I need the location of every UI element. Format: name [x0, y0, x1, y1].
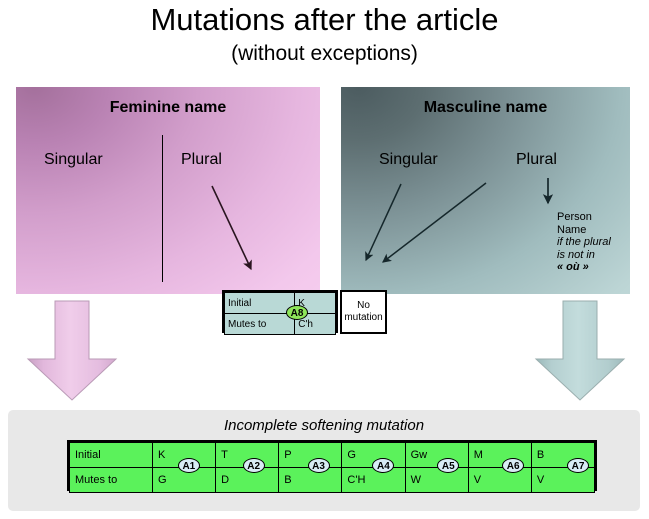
- mutation-initial-a3: P: [279, 443, 342, 468]
- no-mutation-line2: mutation: [344, 312, 382, 323]
- mutation-initial-a5: Gw: [405, 443, 468, 468]
- mutation-table-grid: Initial KTPGGwMB Mutes to GDBC'HWVV: [69, 442, 595, 493]
- masculine-singular-label: Singular: [379, 151, 438, 169]
- feminine-singular-label: Singular: [44, 151, 103, 169]
- masculine-plural-label: Plural: [516, 151, 557, 169]
- feminine-panel-divider: [162, 135, 163, 282]
- mutation-initial-a7: B: [531, 443, 594, 468]
- mutation-mutesto-a2: D: [216, 468, 279, 493]
- masculine-panel-title: Masculine name: [341, 99, 630, 117]
- person-note-line4: is not in: [557, 249, 595, 261]
- down-block-arrow-right: [534, 301, 626, 401]
- mutation-mutesto-label: Mutes to: [70, 468, 153, 493]
- masculine-diagonal-arrow-2: [383, 183, 486, 262]
- table-row: Initial K: [225, 293, 336, 314]
- table-row: Mutes to C'h: [225, 314, 336, 335]
- person-note-line3: if the plural: [557, 236, 611, 248]
- person-note-line2: Name: [557, 224, 586, 236]
- badge-a8: A8: [286, 305, 308, 320]
- bottom-panel-heading: Incomplete softening mutation: [8, 417, 640, 434]
- no-mutation-text: No mutation: [344, 300, 382, 324]
- masculine-diagonal-arrow-1: [366, 184, 401, 260]
- table-row-initial: Initial KTPGGwMB: [70, 443, 595, 468]
- mutation-initial-a6: M: [468, 443, 531, 468]
- mutation-mutesto-a1: G: [153, 468, 216, 493]
- mutation-mutesto-a4: C'H: [342, 468, 405, 493]
- bottom-panel: Incomplete softening mutation Initial KT…: [8, 410, 640, 511]
- title-block: Mutations after the article (without exc…: [0, 2, 649, 67]
- mutation-initial-a2: T: [216, 443, 279, 468]
- a8-initial-label: Initial: [225, 293, 295, 314]
- arrow-shape: [28, 301, 116, 400]
- person-name-note: Person Name if the plural is not in « où…: [557, 211, 637, 274]
- mutation-initial-a4: G: [342, 443, 405, 468]
- person-note-line1: Person: [557, 211, 592, 223]
- a8-mutesto-label: Mutes to: [225, 314, 295, 335]
- down-block-arrow-left: [26, 301, 118, 401]
- person-note-line5: « où »: [557, 261, 589, 273]
- masculine-name-panel: Masculine name Singular Plural Person Na…: [341, 87, 630, 294]
- page-title: Mutations after the article: [0, 2, 649, 38]
- feminine-diagonal-arrow: [212, 186, 251, 269]
- feminine-plural-label: Plural: [181, 151, 222, 169]
- feminine-arrow-svg: [16, 87, 320, 294]
- no-mutation-line1: No: [357, 300, 370, 311]
- table-row-mutesto: Mutes to GDBC'HWVV: [70, 468, 595, 493]
- a8-table-grid: Initial K Mutes to C'h: [224, 292, 336, 335]
- incomplete-softening-mutation-table: Initial KTPGGwMB Mutes to GDBC'HWVV A1A2…: [67, 440, 597, 491]
- page-subtitle: (without exceptions): [0, 41, 649, 67]
- mutation-mutesto-a6: V: [468, 468, 531, 493]
- mutation-mutesto-a7: V: [531, 468, 594, 493]
- feminine-name-panel: Feminine name Singular Plural: [16, 87, 320, 294]
- arrow-shape: [536, 301, 624, 400]
- mutation-initial-label: Initial: [70, 443, 153, 468]
- feminine-panel-title: Feminine name: [16, 99, 320, 117]
- mutation-initial-a1: K: [153, 443, 216, 468]
- mutation-mutesto-a5: W: [405, 468, 468, 493]
- mutation-mutesto-a3: B: [279, 468, 342, 493]
- no-mutation-box: No mutation: [340, 290, 387, 334]
- a8-mutation-table: Initial K Mutes to C'h A8: [222, 290, 338, 333]
